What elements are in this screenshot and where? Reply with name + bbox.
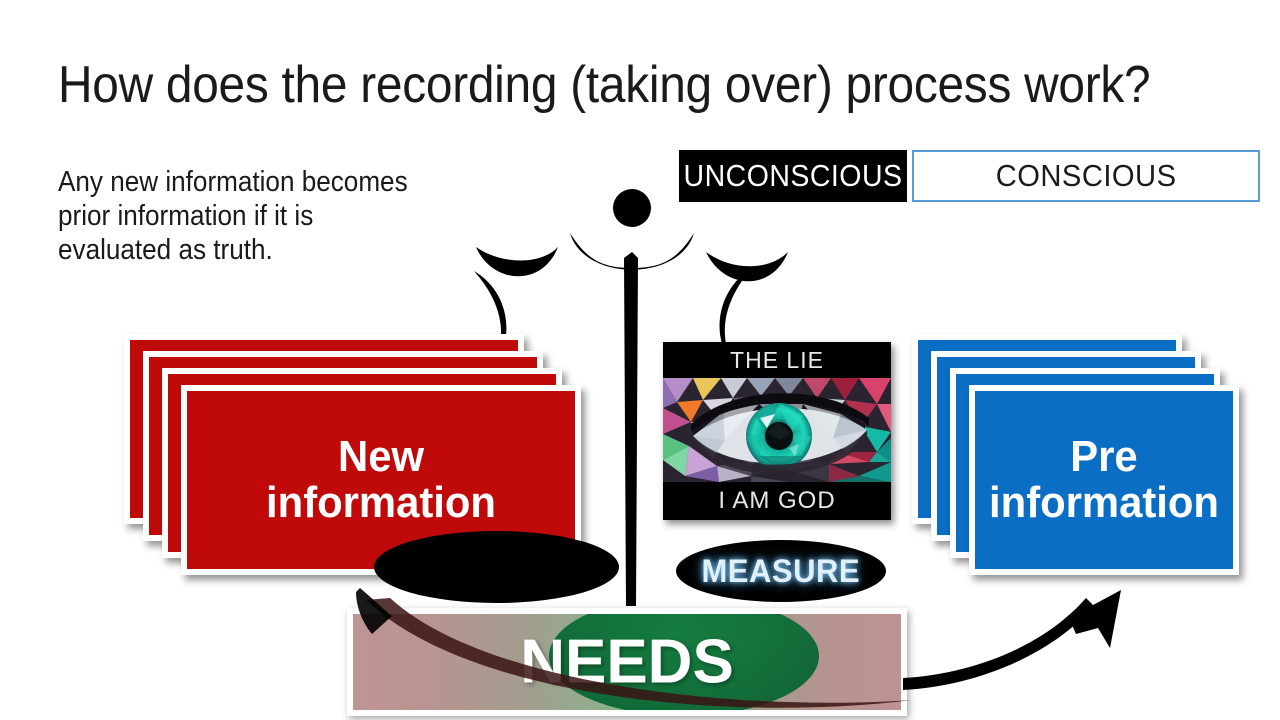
card-pre-information-front[interactable]: Pre information: [969, 385, 1239, 575]
slide-canvas: How does the recording (taking over) pro…: [0, 0, 1280, 720]
label-unconscious-text: UNCONSCIOUS: [684, 158, 903, 194]
eye-card[interactable]: THE LIE: [663, 342, 891, 520]
page-title: How does the recording (taking over) pro…: [58, 58, 1144, 113]
card-pre-information-line1: Pre: [1070, 432, 1137, 481]
needs-bar[interactable]: NEEDS: [347, 608, 907, 716]
body-line-2: prior information if it is: [58, 200, 445, 234]
card-pre-information-label: Pre information: [989, 434, 1219, 526]
label-conscious-text: CONSCIOUS: [996, 158, 1177, 194]
measure-label: MEASURE: [702, 553, 861, 590]
card-new-information-line2: information: [266, 478, 496, 527]
card-new-information-label: New information: [266, 434, 496, 526]
needs-label: NEEDS: [353, 627, 901, 698]
scale-left-pan-shadow: [374, 531, 619, 603]
body-line-1: Any new information becomes: [58, 166, 445, 200]
eye-card-caption-bottom: I AM GOD: [663, 482, 891, 520]
card-new-information-line1: New: [338, 432, 424, 481]
low-poly-eye-icon: [663, 378, 891, 482]
card-stack-pre-information[interactable]: Pre information: [912, 334, 1242, 594]
body-paragraph: Any new information becomes prior inform…: [58, 166, 445, 268]
card-pre-information-line2: information: [989, 478, 1219, 527]
eye-card-caption-top: THE LIE: [663, 342, 891, 378]
measure-badge[interactable]: MEASURE: [676, 540, 886, 602]
body-line-3: evaluated as truth.: [58, 234, 445, 268]
label-unconscious: UNCONSCIOUS: [679, 150, 907, 202]
label-conscious: CONSCIOUS: [912, 150, 1260, 202]
